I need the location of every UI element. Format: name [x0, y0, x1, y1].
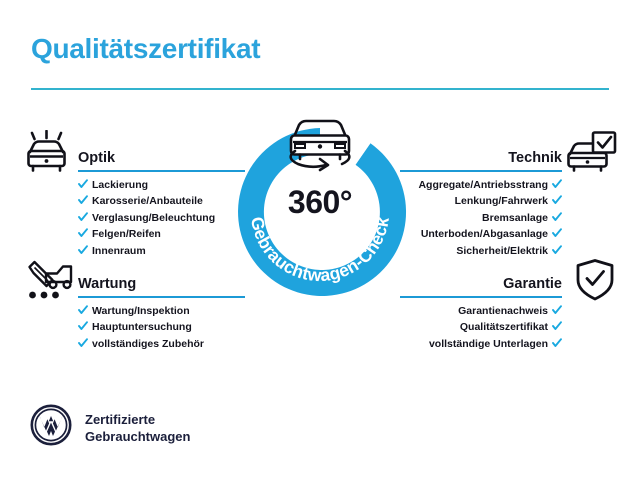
section-head-wartung: Wartung [78, 268, 245, 298]
section-title-wartung: Wartung [78, 276, 136, 292]
list-item: vollständiges Zubehör [78, 336, 245, 352]
check-icon [78, 194, 88, 204]
check-icon [552, 178, 562, 188]
section-title-technik: Technik [508, 150, 562, 166]
list-item-label: Lackierung [92, 179, 148, 191]
check-icon [552, 337, 562, 347]
list-item: Verglasung/Beleuchtung [78, 210, 245, 226]
list-item: vollständige Unterlagen [400, 336, 562, 352]
check-icon [78, 178, 88, 188]
vw-logo-icon [30, 404, 72, 451]
check-icon [78, 211, 88, 221]
vw-footer-text: Zertifizierte Gebrauchtwagen [85, 411, 190, 445]
list-item-label: Wartung/Inspektion [92, 305, 190, 317]
list-item: Aggregate/Antriebsstrang [400, 177, 562, 193]
section-title-garantie: Garantie [503, 276, 562, 292]
section-divider-garantie [400, 296, 562, 298]
list-item-label: Qualitätszertifikat [460, 321, 548, 333]
car-front-shine-icon [22, 130, 72, 174]
section-head-garantie: Garantie [400, 268, 562, 298]
certificate-page: Qualitätszertifikat Optik Lackierung Kar… [0, 0, 640, 480]
section-garantie: Garantie Garantienachweis Qualitätszerti… [400, 268, 562, 352]
check-icon [78, 337, 88, 347]
list-item: Lenkung/Fahrwerk [400, 193, 562, 209]
check-icon [552, 211, 562, 221]
section-optik: Optik Lackierung Karosserie/Anbauteile V… [78, 142, 245, 259]
title-divider [31, 88, 609, 90]
list-item-label: Karosserie/Anbauteile [92, 195, 203, 207]
checklist-optik: Lackierung Karosserie/Anbauteile Verglas… [78, 177, 245, 259]
badge-360-gebrauchtwagen-check: Gebrauchtwagen-Check 360° [228, 120, 412, 304]
section-technik: Technik Aggregate/Antriebsstrang Lenkung… [400, 142, 562, 259]
list-item-label: vollständige Unterlagen [429, 338, 548, 350]
list-item-label: Unterboden/Abgasanlage [421, 228, 548, 240]
list-item: Bremsanlage [400, 210, 562, 226]
shield-check-icon [574, 258, 616, 302]
list-item: Innenraum [78, 243, 245, 259]
check-icon [552, 320, 562, 330]
car-checkbox-icon [566, 130, 618, 174]
list-item-label: vollständiges Zubehör [92, 338, 204, 350]
checklist-garantie: Garantienachweis Qualitätszertifikat vol… [400, 303, 562, 352]
checklist-wartung: Wartung/Inspektion Hauptuntersuchung vol… [78, 303, 245, 352]
check-icon [78, 320, 88, 330]
section-divider-technik [400, 170, 562, 172]
list-item: Felgen/Reifen [78, 226, 245, 242]
list-item: Karosserie/Anbauteile [78, 193, 245, 209]
check-icon [552, 304, 562, 314]
page-title: Qualitätszertifikat [31, 33, 260, 65]
list-item-label: Hauptuntersuchung [92, 321, 192, 333]
list-item-label: Aggregate/Antriebsstrang [418, 179, 548, 191]
section-title-optik: Optik [78, 150, 115, 166]
list-item: Qualitätszertifikat [400, 319, 562, 335]
list-item-label: Bremsanlage [482, 212, 548, 224]
list-item-label: Garantienachweis [458, 305, 548, 317]
list-item: Garantienachweis [400, 303, 562, 319]
check-icon [552, 227, 562, 237]
vw-certified-footer: Zertifizierte Gebrauchtwagen [30, 404, 190, 451]
vw-footer-line2: Gebrauchtwagen [85, 428, 190, 445]
list-item-label: Innenraum [92, 245, 146, 257]
section-divider-wartung [78, 296, 245, 298]
list-item: Unterboden/Abgasanlage [400, 226, 562, 242]
list-item: Wartung/Inspektion [78, 303, 245, 319]
vw-footer-line1: Zertifizierte [85, 411, 190, 428]
check-icon [78, 304, 88, 314]
checklist-technik: Aggregate/Antriebsstrang Lenkung/Fahrwer… [400, 177, 562, 259]
check-icon [78, 227, 88, 237]
list-item-label: Lenkung/Fahrwerk [455, 195, 548, 207]
section-wartung: Wartung Wartung/Inspektion Hauptuntersuc… [78, 268, 245, 352]
badge-degrees-label: 360° [228, 184, 412, 221]
list-item: Lackierung [78, 177, 245, 193]
car-wrench-icon [22, 258, 74, 302]
list-item-label: Verglasung/Beleuchtung [92, 212, 215, 224]
check-icon [552, 244, 562, 254]
list-item: Sicherheit/Elektrik [400, 243, 562, 259]
check-icon [552, 194, 562, 204]
list-item: Hauptuntersuchung [78, 319, 245, 335]
section-head-technik: Technik [400, 142, 562, 172]
car-rotate-360-icon [278, 111, 362, 173]
section-divider-optik [78, 170, 245, 172]
section-head-optik: Optik [78, 142, 245, 172]
list-item-label: Sicherheit/Elektrik [456, 245, 548, 257]
check-icon [78, 244, 88, 254]
list-item-label: Felgen/Reifen [92, 228, 161, 240]
